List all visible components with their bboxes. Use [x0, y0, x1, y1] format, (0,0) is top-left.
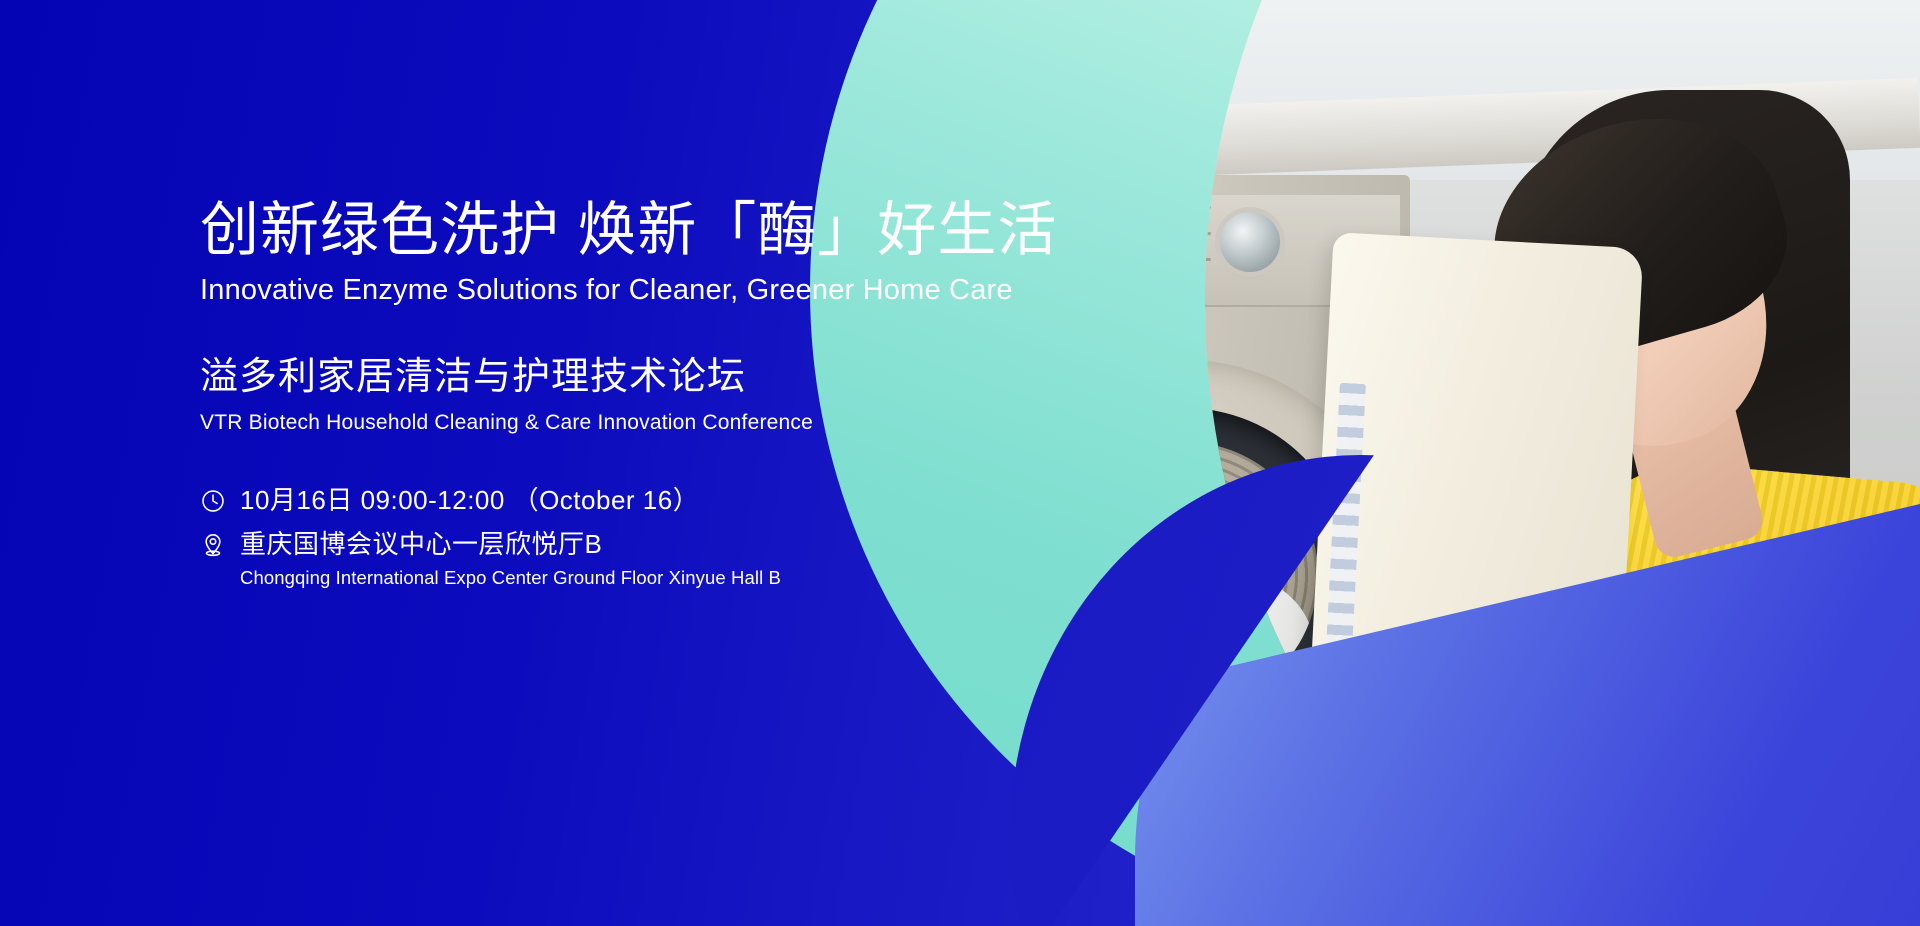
event-venue-english: Chongqing International Expo Center Grou… [240, 565, 781, 592]
program-dial [1220, 212, 1280, 272]
headline-chinese: 创新绿色洗护 焕新「酶」好生活 [200, 196, 1060, 264]
banner-content: 创新绿色洗护 焕新「酶」好生活 Innovative Enzyme Soluti… [200, 196, 1060, 606]
event-venue-row: 重庆国博会议中心一层欣悦厅B Chongqing International E… [200, 529, 1060, 591]
event-details: 10月16日 09:00-12:00 （October 16） 重庆国博会议中心… [200, 485, 1060, 592]
headline-english: Innovative Enzyme Solutions for Cleaner,… [200, 272, 1060, 308]
event-venue-text: 重庆国博会议中心一层欣悦厅B Chongqing International E… [240, 529, 781, 591]
subheadline-chinese: 溢多利家居清洁与护理技术论坛 [200, 355, 1060, 401]
subheadline-english: VTR Biotech Household Cleaning & Care In… [200, 409, 1060, 436]
location-pin-icon [200, 532, 226, 558]
event-datetime-row: 10月16日 09:00-12:00 （October 16） [200, 485, 1060, 516]
event-banner: 创新绿色洗护 焕新「酶」好生活 Innovative Enzyme Soluti… [0, 0, 1920, 926]
event-datetime-text: 10月16日 09:00-12:00 （October 16） [240, 485, 699, 516]
clock-icon [200, 488, 226, 514]
event-datetime: 10月16日 09:00-12:00 （October 16） [240, 485, 699, 516]
event-venue-chinese: 重庆国博会议中心一层欣悦厅B [240, 529, 781, 560]
